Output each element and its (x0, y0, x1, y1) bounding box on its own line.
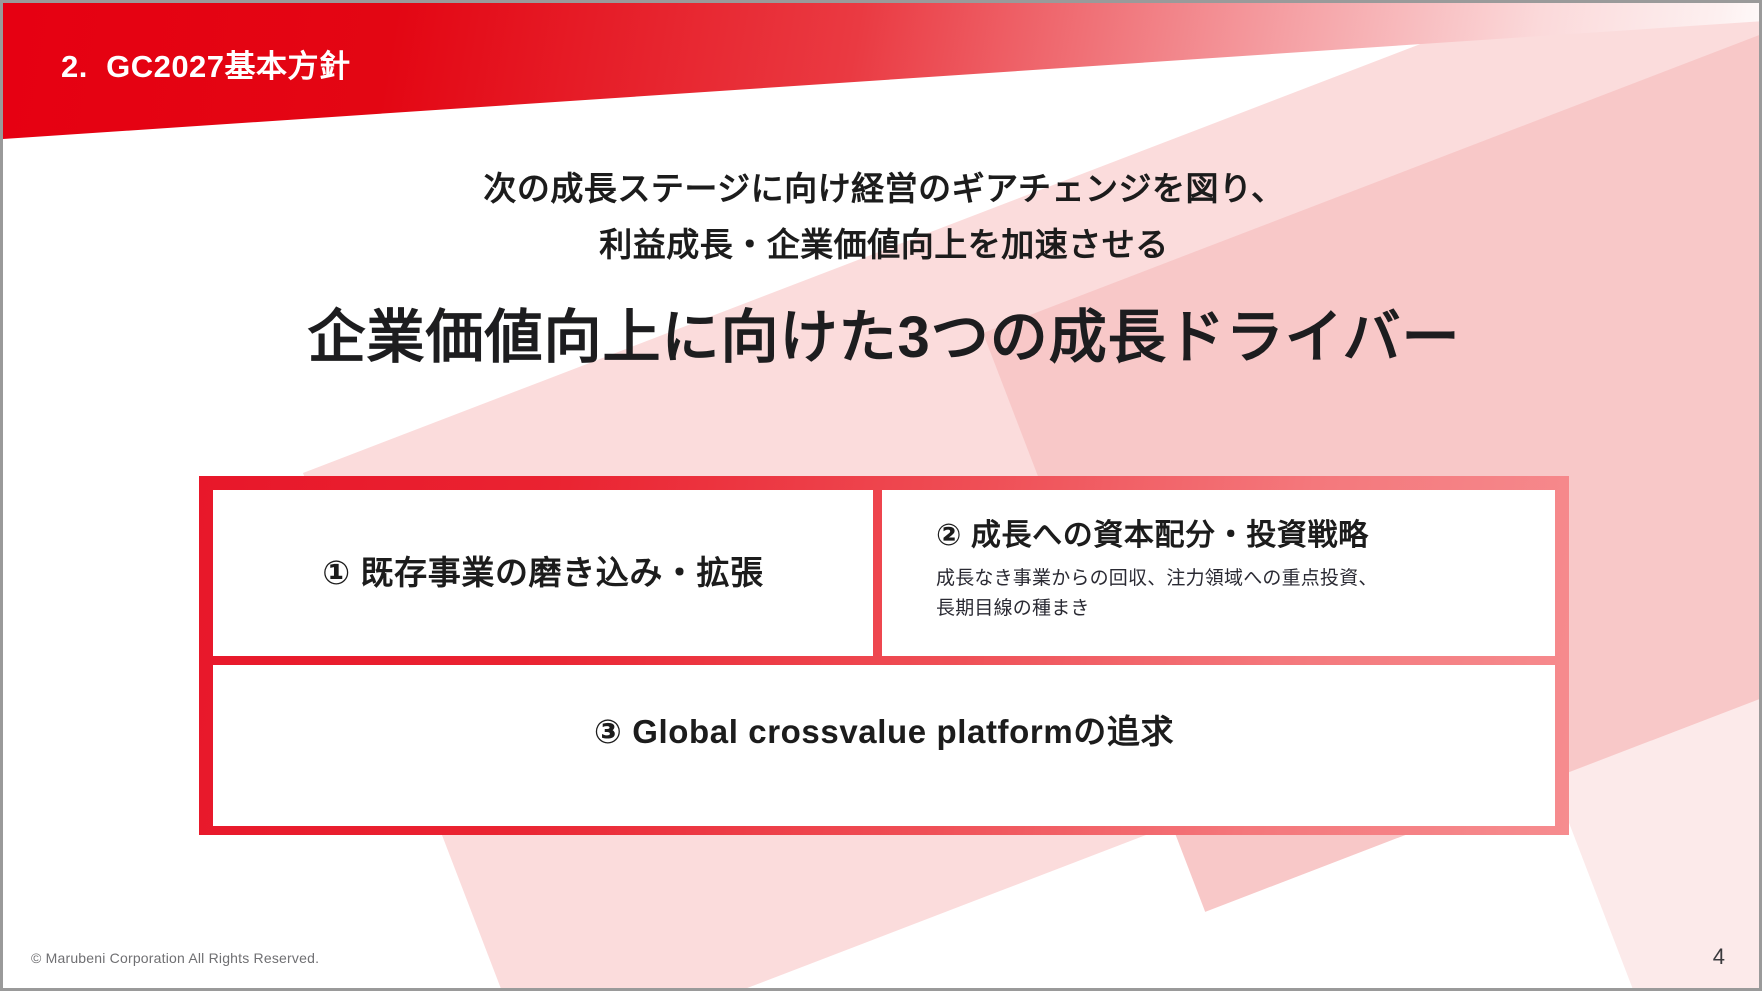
driver-card-3: ③ Global crossvalue platformの追求 (213, 665, 1555, 826)
page-number: 4 (1713, 944, 1725, 970)
drivers-row-bottom: ③ Global crossvalue platformの追求 (213, 665, 1555, 826)
driver-card-2: ② 成長への資本配分・投資戦略 成長なき事業からの回収、注力領域への重点投資、 … (882, 490, 1555, 656)
lead-line-1: 次の成長ステージに向け経営のギアチェンジを図り、 (3, 161, 1762, 217)
copyright-notice: © Marubeni Corporation All Rights Reserv… (31, 950, 319, 966)
driver-card-2-desc-line-1: 成長なき事業からの回収、注力領域への重点投資、 (936, 564, 1555, 594)
section-headline: 企業価値向上に向けた3つの成長ドライバー (3, 299, 1762, 377)
growth-drivers-frame: ① 既存事業の磨き込み・拡張 ② 成長への資本配分・投資戦略 成長なき事業からの… (199, 476, 1569, 835)
driver-card-1-title: ① 既存事業の磨き込み・拡張 (322, 552, 764, 595)
driver-card-3-title: ③ Global crossvalue platformの追求 (594, 711, 1174, 754)
lead-line-2: 利益成長・企業価値向上を加速させる (3, 217, 1762, 273)
driver-card-2-desc-line-2: 長期目線の種まき (936, 594, 1555, 624)
driver-card-1: ① 既存事業の磨き込み・拡張 (213, 490, 873, 656)
slide: 2. GC2027基本方針 次の成長ステージに向け経営のギアチェンジを図り、 利… (0, 0, 1762, 991)
drivers-row-top: ① 既存事業の磨き込み・拡張 ② 成長への資本配分・投資戦略 成長なき事業からの… (213, 490, 1555, 656)
driver-card-2-description: 成長なき事業からの回収、注力領域への重点投資、 長期目線の種まき (936, 564, 1555, 624)
driver-card-2-title: ② 成長への資本配分・投資戦略 (936, 516, 1555, 555)
page-title: 2. GC2027基本方針 (61, 41, 351, 86)
lead-copy: 次の成長ステージに向け経営のギアチェンジを図り、 利益成長・企業価値向上を加速さ… (3, 161, 1762, 273)
